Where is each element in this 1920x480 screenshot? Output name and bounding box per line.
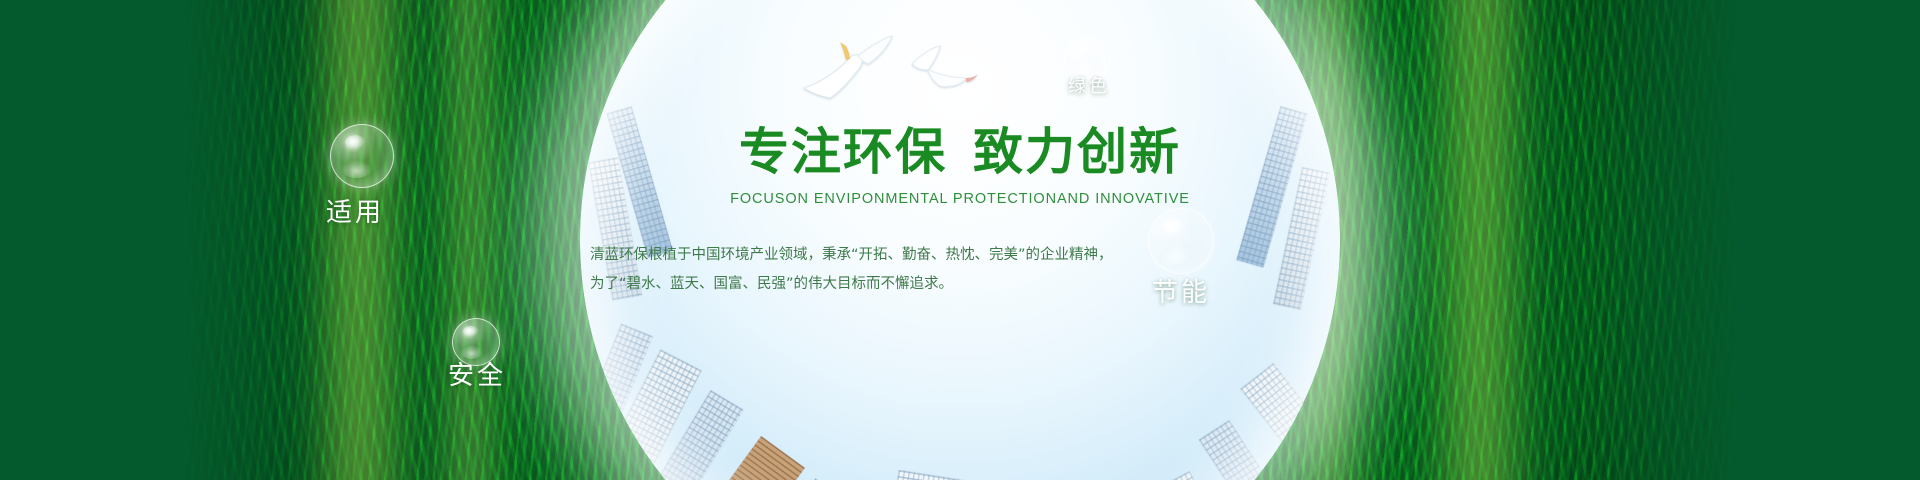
- banner-subtitle: FOCUSON ENVIPONMENTAL PROTECTIONAND INNO…: [580, 191, 1340, 207]
- foliage-highlight-right-1: [1420, 0, 1540, 480]
- headline-part-left: 专注环保: [739, 123, 947, 181]
- feature-label-lvse: 绿色: [1068, 72, 1110, 98]
- foliage-highlight-left-1: [300, 0, 420, 480]
- feature-label-shiyong: 适用: [326, 192, 384, 229]
- building: [644, 436, 805, 480]
- bubble-icon: [330, 124, 394, 188]
- feature-label-anquan: 安全: [448, 355, 506, 392]
- body-line-1: 清蓝环保根植于中国环境产业领域，秉承“开拓、勤奋、热忱、完美”的企业精神，: [590, 241, 1340, 270]
- foliage-highlight-left-2: [430, 0, 510, 480]
- banner-headline: 专注环保致力创新: [580, 126, 1340, 179]
- seagull-icon: [906, 44, 980, 98]
- building-main-tower: [866, 470, 1025, 480]
- banner-copy: 专注环保致力创新 FOCUSON ENVIPONMENTAL PROTECTIO…: [580, 126, 1340, 299]
- hero-banner: 适用 安全 绿色 节能 专注环保致力创新 FOCUSON ENVIPONMENT…: [0, 0, 1920, 480]
- headline-part-right: 致力创新: [973, 123, 1181, 181]
- body-line-2: 为了“碧水、蓝天、国富、民强”的伟大目标而不懈追求。: [590, 270, 1340, 299]
- seagull-icon: [800, 30, 896, 100]
- building: [1240, 363, 1340, 480]
- banner-body-copy: 清蓝环保根植于中国环境产业领域，秉承“开拓、勤奋、热忱、完美”的企业精神， 为了…: [580, 241, 1340, 299]
